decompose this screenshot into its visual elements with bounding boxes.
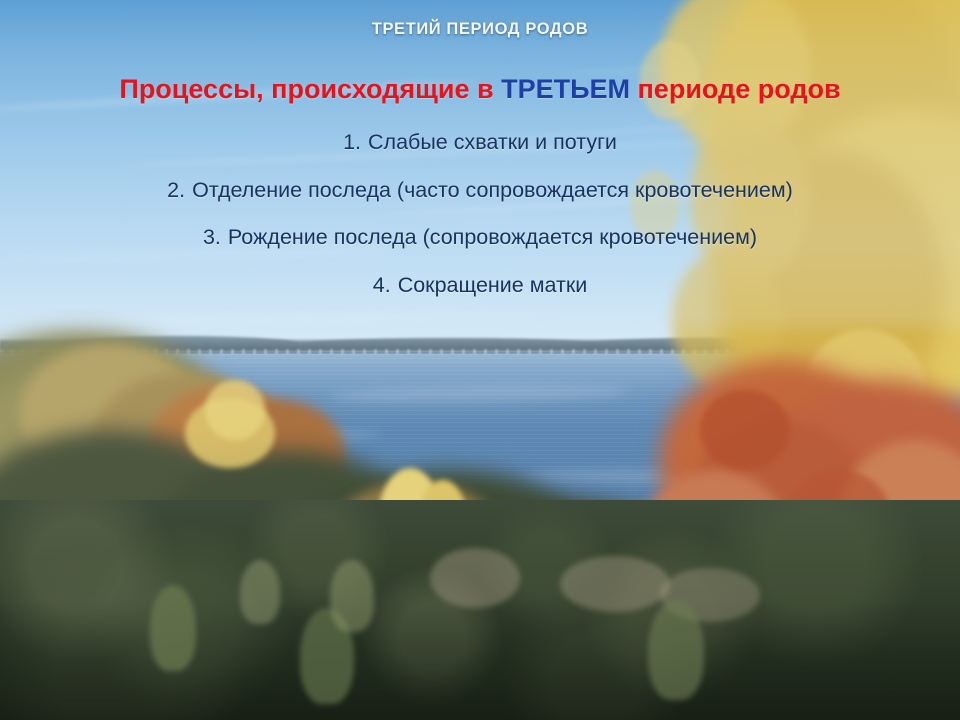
text-layer: ТРЕТИЙ ПЕРИОД РОДОВ Процессы, происходящ… <box>0 0 960 720</box>
list-item-number: 4. <box>373 273 391 297</box>
list-item-label: Рождение последа (сопровождается кровоте… <box>228 225 757 249</box>
slide-header: ТРЕТИЙ ПЕРИОД РОДОВ <box>0 20 960 39</box>
page-title: Процессы, происходящие в ТРЕТЬЕМ периоде… <box>0 74 960 105</box>
list-item-number: 1. <box>343 130 361 154</box>
title-accent-word: ТРЕТЬЕМ <box>501 74 630 104</box>
list-item-label: Отделение последа (часто сопровождается … <box>192 178 793 202</box>
list-item: 3.Рождение последа (сопровождается крово… <box>0 227 960 249</box>
list-item: 4.Сокращение матки <box>0 275 960 297</box>
process-list: 1.Слабые схватки и потуги 2.Отделение по… <box>0 132 960 322</box>
list-item: 2.Отделение последа (часто сопровождаетс… <box>0 180 960 202</box>
list-item-label: Сокращение матки <box>398 273 588 297</box>
title-part-after: периоде родов <box>630 74 841 104</box>
list-item-number: 2. <box>167 178 185 202</box>
list-item-number: 3. <box>203 225 221 249</box>
list-item-label: Слабые схватки и потуги <box>368 130 617 154</box>
title-part-before: Процессы, происходящие в <box>119 74 501 104</box>
list-item: 1.Слабые схватки и потуги <box>0 132 960 154</box>
slide: ТРЕТИЙ ПЕРИОД РОДОВ Процессы, происходящ… <box>0 0 960 720</box>
